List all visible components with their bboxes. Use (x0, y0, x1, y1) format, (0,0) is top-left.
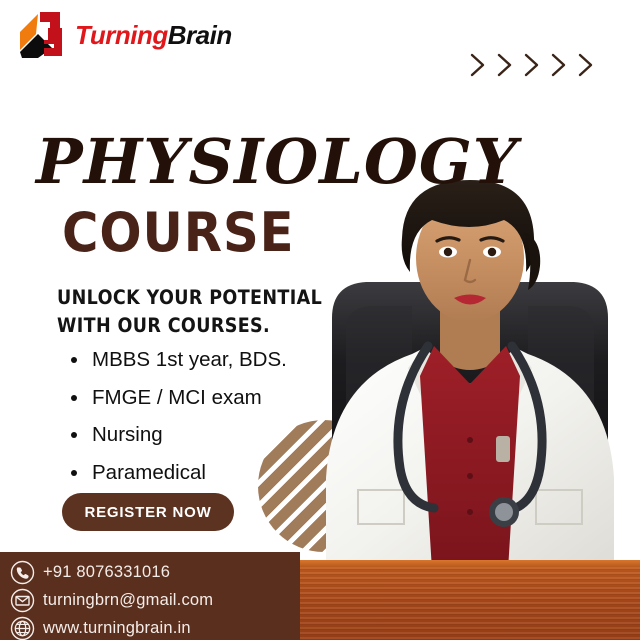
envelope-icon (10, 588, 35, 613)
contact-website-row[interactable]: www.turningbrain.in (10, 616, 191, 640)
brand-name-part2: Brain (168, 20, 232, 50)
website-url: www.turningbrain.in (43, 619, 191, 638)
brand-name: TurningBrain (75, 22, 232, 48)
subtitle-text: UNLOCK YOUR POTENTIAL WITH OUR COURSES. (57, 284, 327, 341)
list-item: Paramedical (68, 463, 287, 484)
contact-footer: +91 8076331016 turningbrn@gmail.com www.… (0, 552, 300, 640)
chevron-right-icon (466, 52, 490, 78)
phone-icon (10, 560, 35, 585)
contact-email-row[interactable]: turningbrn@gmail.com (10, 588, 213, 613)
list-item: FMGE / MCI exam (68, 388, 287, 409)
wooden-desk (300, 560, 640, 640)
brand-logo[interactable]: TurningBrain (14, 10, 232, 60)
register-now-button[interactable]: REGISTER NOW (62, 493, 234, 531)
page-title-line1: PHYSIOLOGY (36, 131, 518, 193)
list-item: Nursing (68, 425, 287, 446)
chevron-right-icon (493, 52, 517, 78)
brand-name-part1: Turning (75, 20, 168, 50)
chevron-right-icon (574, 52, 598, 78)
page-title-line2: COURSE (62, 206, 295, 260)
chevron-decoration (466, 52, 598, 78)
globe-icon (10, 616, 35, 640)
desk-front-edge (300, 560, 640, 567)
turningbrain-hexagon-logo-icon (14, 10, 66, 60)
email-address: turningbrn@gmail.com (43, 591, 213, 610)
chevron-right-icon (520, 52, 544, 78)
flyer-canvas: TurningBrain PHYSIOLOGY COURSE UNLOCK YO… (0, 0, 640, 640)
contact-phone-row[interactable]: +91 8076331016 (10, 560, 170, 585)
chevron-right-icon (547, 52, 571, 78)
doctor-photo (300, 140, 640, 570)
offerings-list: MBBS 1st year, BDS. FMGE / MCI exam Nurs… (68, 350, 287, 500)
list-item: MBBS 1st year, BDS. (68, 350, 287, 371)
phone-number: +91 8076331016 (43, 563, 170, 582)
